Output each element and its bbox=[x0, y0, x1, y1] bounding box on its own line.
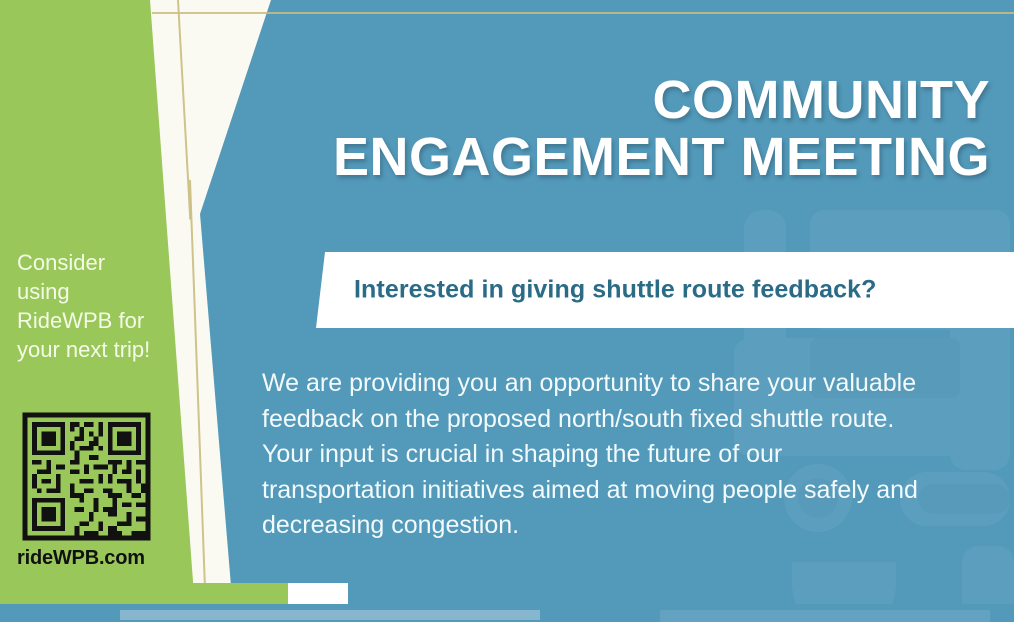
flyer-canvas: COMMUNITY ENGAGEMENT MEETING Interested … bbox=[0, 0, 1014, 622]
subheading-text: Interested in giving shuttle route feedb… bbox=[354, 276, 877, 305]
bottom-sliver-tint bbox=[660, 610, 990, 622]
bottom-sliver-light bbox=[120, 610, 540, 620]
body-copy: We are providing you an opportunity to s… bbox=[262, 366, 922, 544]
qr-code-icon[interactable] bbox=[18, 408, 155, 545]
gold-rule-top bbox=[152, 12, 1014, 14]
body-paragraph-1: We are providing you an opportunity to s… bbox=[262, 366, 922, 437]
green-band-foot bbox=[0, 583, 300, 605]
page-title-line1: COMMUNITY bbox=[200, 72, 990, 129]
qr-caption: rideWPB.com bbox=[17, 547, 167, 570]
white-foot-sliver bbox=[288, 583, 348, 605]
subheading-banner: Interested in giving shuttle route feedb… bbox=[316, 252, 1014, 328]
page-title: COMMUNITY ENGAGEMENT MEETING bbox=[200, 72, 990, 186]
sidebar-promo-text: Consider using RideWPB for your next tri… bbox=[17, 248, 157, 364]
bottom-strip bbox=[0, 604, 1014, 622]
page-title-line2: ENGAGEMENT MEETING bbox=[200, 129, 990, 186]
body-paragraph-2: Your input is crucial in shaping the fut… bbox=[262, 437, 922, 544]
